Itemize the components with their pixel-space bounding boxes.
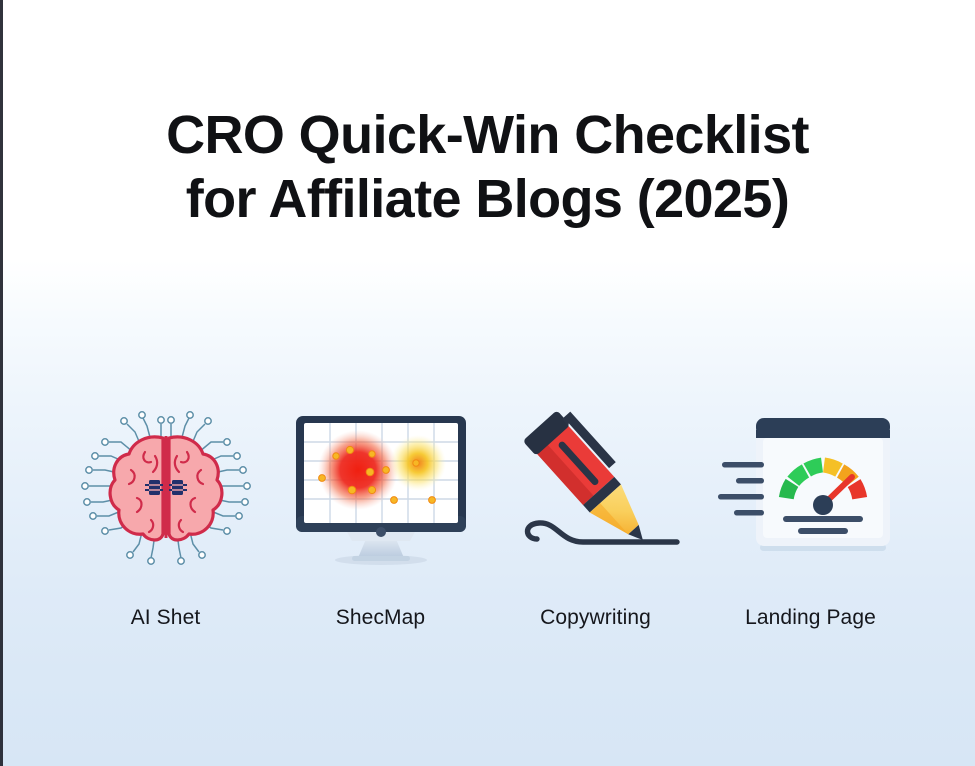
feature-label-heatmap: ShecMap (336, 606, 425, 630)
feature-label-landing-page: Landing Page (745, 606, 876, 630)
feature-item-heatmap[interactable]: ShecMap (273, 408, 488, 630)
page-title: CRO Quick-Win Checklist for Affiliate Bl… (0, 103, 975, 231)
page-title-line-2: for Affiliate Blogs (2025) (0, 167, 975, 231)
feature-item-landing-page[interactable]: Landing Page (703, 408, 918, 630)
heatmap-monitor-icon (286, 408, 476, 568)
feature-label-ai-brain: AI Shet (131, 606, 201, 630)
ai-brain-circuit-icon (71, 408, 261, 568)
pen-writing-icon (501, 408, 691, 568)
feature-label-copywriting: Copywriting (540, 606, 651, 630)
speed-gauge-browser-icon (716, 408, 906, 568)
feature-item-copywriting[interactable]: Copywriting (488, 408, 703, 630)
poster-canvas: CRO Quick-Win Checklist for Affiliate Bl… (0, 0, 975, 766)
feature-icon-row: AI Shet (58, 408, 918, 630)
feature-item-ai-brain[interactable]: AI Shet (58, 408, 273, 630)
page-title-line-1: CRO Quick-Win Checklist (0, 103, 975, 167)
